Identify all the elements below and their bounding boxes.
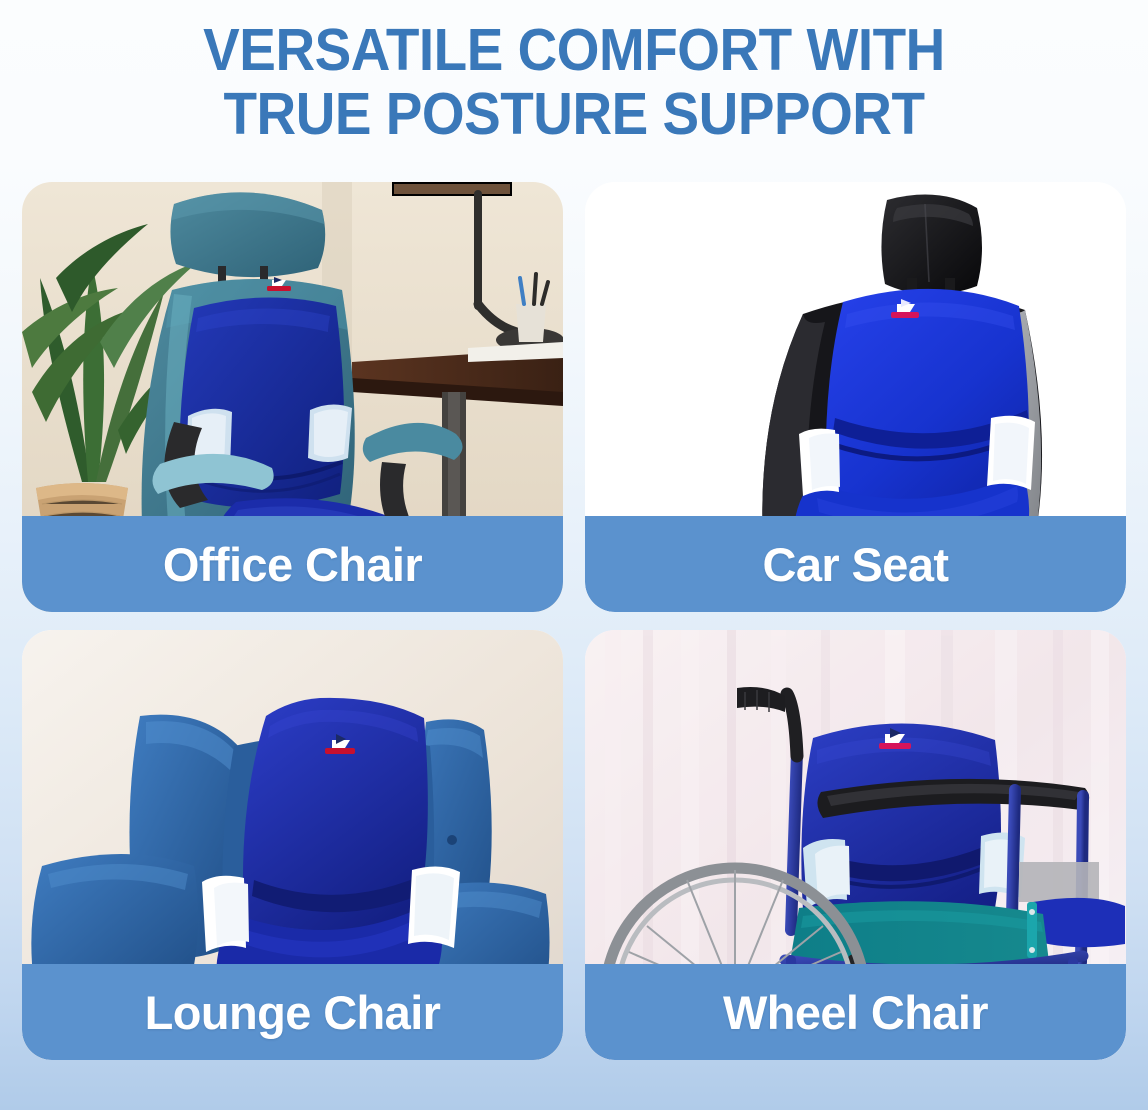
label-bar-office-chair: Office Chair: [22, 516, 563, 612]
label-bar-car-seat: Car Seat: [585, 516, 1126, 612]
card-label-text: Wheel Chair: [723, 985, 988, 1040]
card-wheel-chair[interactable]: Wheel Chair: [585, 630, 1126, 1060]
page-title: VERSATILE COMFORT WITH TRUE POSTURE SUPP…: [0, 0, 1148, 144]
page-title-line-2: TRUE POSTURE SUPPORT: [40, 86, 1108, 144]
page-title-line-1: VERSATILE COMFORT WITH: [40, 22, 1108, 80]
card-label-text: Office Chair: [163, 537, 422, 592]
card-office-chair[interactable]: Office Chair: [22, 182, 563, 612]
card-label-text: Lounge Chair: [145, 985, 441, 1040]
card-car-seat[interactable]: Car Seat: [585, 182, 1126, 612]
product-use-case-grid: Office Chair: [22, 182, 1126, 1060]
label-bar-lounge-chair: Lounge Chair: [22, 964, 563, 1060]
card-lounge-chair[interactable]: Lounge Chair: [22, 630, 563, 1060]
card-label-text: Car Seat: [763, 537, 949, 592]
label-bar-wheel-chair: Wheel Chair: [585, 964, 1126, 1060]
